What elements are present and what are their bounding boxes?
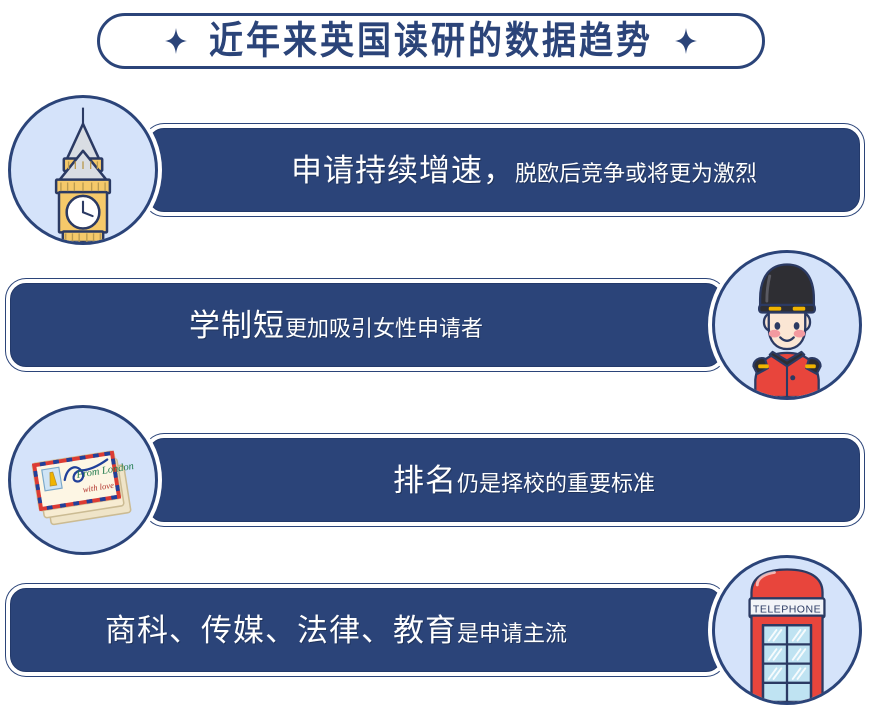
four-point-star-icon	[165, 28, 187, 54]
trend-bar[interactable]: 商科、传媒、法律、教育 是申请主流	[10, 588, 722, 672]
trend-detail: 是申请主流	[457, 623, 567, 645]
trend-detail: 脱欧后竞争或将更为激烈	[515, 163, 757, 185]
telephone-box-icon: TELEPHONE	[712, 555, 862, 705]
page-title: 近年来英国读研的数据趋势	[209, 22, 653, 60]
big-ben-icon	[8, 95, 158, 245]
trend-detail: 更加吸引女性申请者	[285, 318, 483, 340]
trend-bar[interactable]: 排名 仍是择校的重要标准	[148, 438, 860, 522]
airmail-postcard-icon: From London with love	[8, 405, 158, 555]
trend-emphasis: 学制短	[189, 310, 285, 341]
trend-text: 学制短 更加吸引女性申请者	[189, 310, 483, 341]
trend-row: 排名 仍是择校的重要标准	[0, 405, 870, 555]
trend-row: 商科、传媒、法律、教育 是申请主流	[0, 555, 870, 705]
page-title-banner: 近年来英国读研的数据趋势	[97, 13, 765, 69]
trend-bar[interactable]: 学制短 更加吸引女性申请者	[10, 283, 722, 367]
telephone-label: TELEPHONE	[753, 604, 821, 616]
trend-detail: 仍是择校的重要标准	[457, 473, 655, 495]
four-point-star-icon	[675, 28, 697, 54]
trend-text: 商科、传媒、法律、教育 是申请主流	[105, 615, 567, 646]
trend-text: 排名 仍是择校的重要标准	[393, 465, 655, 496]
trend-row: 申请持续增速， 脱欧后竞争或将更为激烈	[0, 95, 870, 245]
trend-emphasis: 商科、传媒、法律、教育	[105, 615, 457, 646]
trend-emphasis: 排名	[393, 465, 457, 496]
royal-guard-icon	[712, 250, 862, 400]
trend-emphasis: 申请持续增速，	[291, 155, 515, 186]
trend-bar[interactable]: 申请持续增速， 脱欧后竞争或将更为激烈	[148, 128, 860, 212]
trend-text: 申请持续增速， 脱欧后竞争或将更为激烈	[291, 155, 757, 186]
trend-row: 学制短 更加吸引女性申请者	[0, 250, 870, 400]
